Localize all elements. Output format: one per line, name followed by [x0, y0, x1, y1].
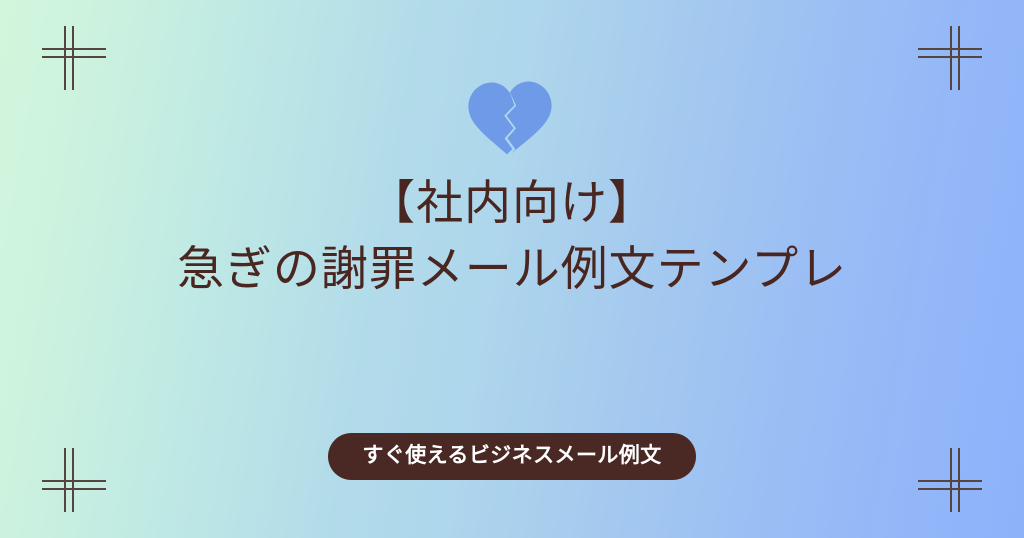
page-title: 【社内向け】 急ぎの謝罪メール例文テンプレ [177, 174, 847, 300]
banner-content: 【社内向け】 急ぎの謝罪メール例文テンプレ すぐ使えるビジネスメール例文 [0, 0, 1024, 538]
title-line-2: 急ぎの謝罪メール例文テンプレ [177, 240, 847, 300]
badge-container: すぐ使えるビジネスメール例文 [0, 433, 1024, 480]
title-line-1: 【社内向け】 [177, 174, 847, 234]
status-badge: すぐ使えるビジネスメール例文 [328, 433, 695, 480]
banner-card: 【社内向け】 急ぎの謝罪メール例文テンプレ すぐ使えるビジネスメール例文 [0, 0, 1024, 538]
broken-heart-emoji [466, 82, 558, 156]
broken-heart-icon [466, 81, 558, 157]
